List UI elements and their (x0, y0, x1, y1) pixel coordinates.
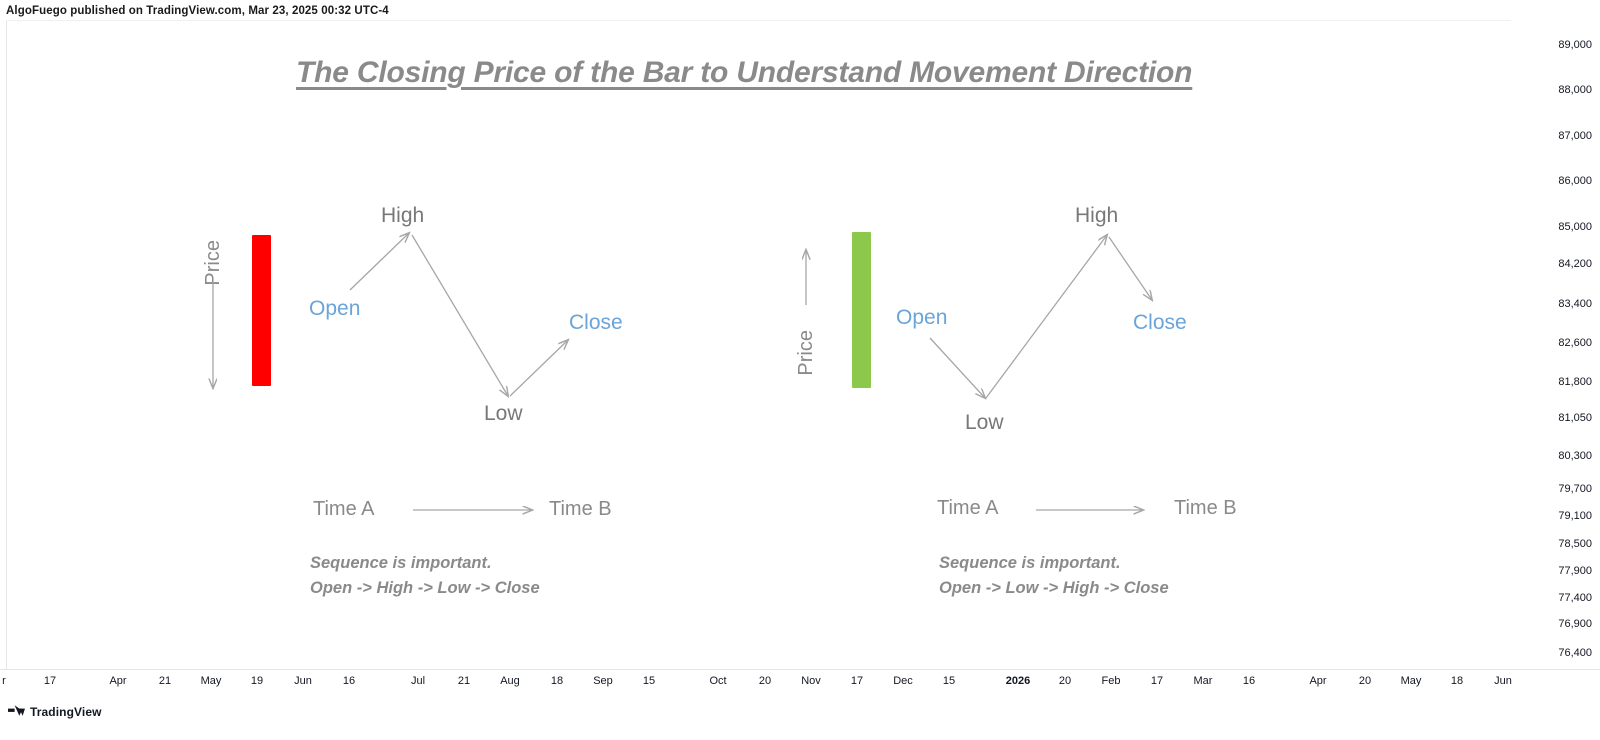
time-axis-tick: Dec (893, 675, 913, 687)
time-axis-tick: 17 (44, 675, 56, 687)
time-axis-tick: 20 (1059, 675, 1071, 687)
time-axis-tick: Nov (801, 675, 821, 687)
price-axis-tick: 82,600 (1558, 337, 1592, 349)
time-axis[interactable]: r17Apr21May19Jun16Jul21Aug18Sep15Oct20No… (0, 669, 1600, 696)
time-axis-tick: Feb (1102, 675, 1121, 687)
bullish-time-b-label: Time B (1174, 497, 1237, 520)
bullish-open-label: Open (896, 306, 947, 330)
price-axis-tick: 81,050 (1558, 412, 1592, 424)
footer-bar: TradingView (0, 696, 1600, 740)
price-axis-tick: 77,400 (1558, 592, 1592, 604)
time-axis-tick: 15 (943, 675, 955, 687)
price-axis[interactable]: 89,00088,00087,00086,00085,00084,20083,4… (1511, 20, 1600, 668)
bearish-price-axis-label: Price (202, 240, 225, 286)
page-title: The Closing Price of the Bar to Understa… (296, 56, 1192, 90)
price-axis-tick: 83,400 (1558, 298, 1592, 310)
time-axis-tick: 17 (851, 675, 863, 687)
bullish-high-label: High (1075, 204, 1118, 228)
bearish-low-label: Low (484, 402, 523, 426)
time-axis-tick: 20 (1359, 675, 1371, 687)
bullish-low-label: Low (965, 411, 1004, 435)
time-axis-tick: 18 (1451, 675, 1463, 687)
time-axis-tick: Aug (500, 675, 520, 687)
time-axis-tick: 19 (251, 675, 263, 687)
price-axis-tick: 85,000 (1558, 221, 1592, 233)
tradingview-logo[interactable]: TradingView (8, 703, 102, 721)
price-axis-tick: 86,000 (1558, 175, 1592, 187)
bearish-sequence-note-line1: Sequence is important. (310, 551, 492, 576)
price-axis-tick: 81,800 (1558, 376, 1592, 388)
bullish-sequence-note-line1: Sequence is important. (939, 551, 1121, 576)
time-axis-tick: Jun (294, 675, 312, 687)
time-axis-tick: 16 (1243, 675, 1255, 687)
price-axis-tick: 80,300 (1558, 450, 1592, 462)
time-axis-tick: Jun (1494, 675, 1512, 687)
price-axis-tick: 84,200 (1558, 258, 1592, 270)
price-axis-tick: 87,000 (1558, 130, 1592, 142)
time-axis-tick: 17 (1151, 675, 1163, 687)
price-axis-tick: 78,500 (1558, 538, 1592, 550)
bullish-sequence-note-line2: Open -> Low -> High -> Close (939, 576, 1169, 601)
bearish-candle-bar (252, 235, 271, 386)
time-axis-tick: Jul (411, 675, 425, 687)
tradingview-logo-text: TradingView (30, 705, 102, 719)
bearish-open-label: Open (309, 297, 360, 321)
time-axis-tick: 16 (343, 675, 355, 687)
price-axis-tick: 77,900 (1558, 565, 1592, 577)
bullish-close-label: Close (1133, 311, 1187, 335)
time-axis-tick: Sep (593, 675, 613, 687)
bearish-close-label: Close (569, 311, 623, 335)
bearish-time-b-label: Time B (549, 498, 612, 521)
bearish-sequence-note-line2: Open -> High -> Low -> Close (310, 576, 540, 601)
bullish-price-axis-label: Price (795, 330, 818, 376)
time-axis-tick: Mar (1194, 675, 1213, 687)
price-axis-tick: 76,900 (1558, 618, 1592, 630)
time-axis-tick: Apr (1309, 675, 1326, 687)
time-axis-tick: 15 (643, 675, 655, 687)
chart-pane[interactable] (6, 20, 1511, 669)
time-axis-tick: Apr (109, 675, 126, 687)
time-axis-tick: May (201, 675, 222, 687)
time-axis-tick: 21 (458, 675, 470, 687)
price-axis-tick: 89,000 (1558, 39, 1592, 51)
time-axis-tick: May (1401, 675, 1422, 687)
tradingview-logo-icon (8, 703, 25, 721)
bearish-high-label: High (381, 204, 424, 228)
time-axis-tick: Oct (709, 675, 726, 687)
bullish-candle-bar (852, 232, 871, 388)
time-axis-tick: 20 (759, 675, 771, 687)
price-axis-tick: 79,100 (1558, 510, 1592, 522)
time-axis-tick: 2026 (1006, 675, 1030, 687)
time-axis-tick: 21 (159, 675, 171, 687)
bearish-time-a-label: Time A (313, 498, 375, 521)
price-axis-tick: 79,700 (1558, 483, 1592, 495)
bullish-time-a-label: Time A (937, 497, 999, 520)
time-axis-tick: r (2, 675, 6, 687)
time-axis-tick: 18 (551, 675, 563, 687)
price-axis-tick: 88,000 (1558, 84, 1592, 96)
price-axis-tick: 76,400 (1558, 647, 1592, 659)
publisher-attribution: AlgoFuego published on TradingView.com, … (6, 5, 389, 17)
